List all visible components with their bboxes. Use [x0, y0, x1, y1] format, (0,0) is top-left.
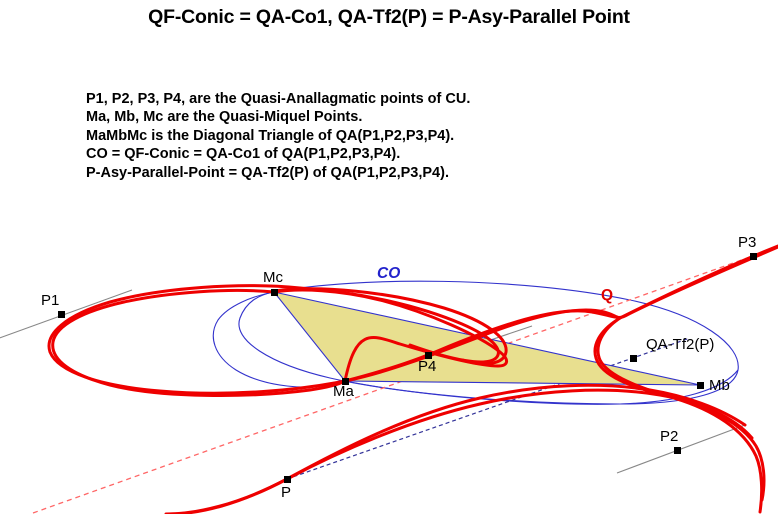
tangent-line-at-p1: [0, 290, 132, 340]
label-qa-tf2-p: QA-Tf2(P): [646, 336, 714, 353]
label-mb: Mb: [709, 377, 730, 394]
label-p3: P3: [738, 234, 756, 251]
diagram-page: QF-Conic = QA-Co1, QA-Tf2(P) = P-Asy-Par…: [0, 0, 778, 514]
label-p4: P4: [418, 358, 436, 375]
point-marker-qa-tf2-p: [630, 355, 637, 362]
point-marker-p: [284, 476, 291, 483]
label-p1: P1: [41, 292, 59, 309]
label-mc: Mc: [263, 269, 283, 286]
point-marker-p2: [674, 447, 681, 454]
point-marker-p3: [750, 253, 757, 260]
point-marker-mc: [271, 289, 278, 296]
point-marker-mb: [697, 382, 704, 389]
point-marker-p1: [58, 311, 65, 318]
label-p2: P2: [660, 428, 678, 445]
label-p: P: [281, 484, 291, 501]
label-ma: Ma: [333, 383, 354, 400]
label-co: CO: [377, 265, 400, 283]
label-q: Q: [601, 287, 613, 305]
